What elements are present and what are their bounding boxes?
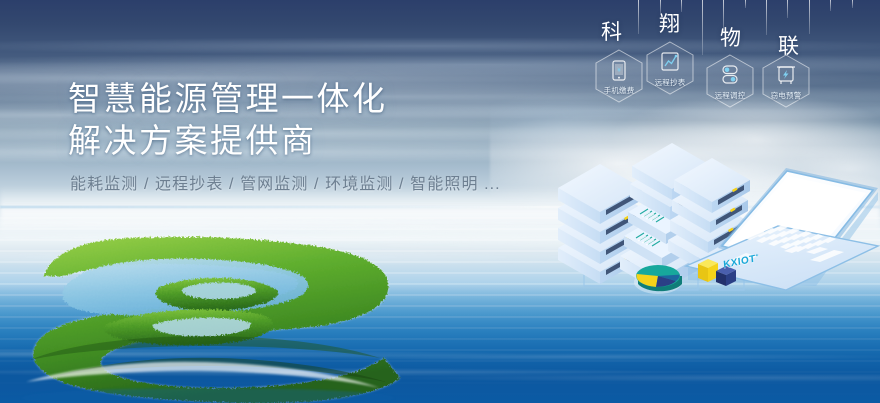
feature-label-4: 窃电预警 [759,90,813,101]
page-title: 智慧能源管理一体化 解决方案提供商 [68,78,388,162]
feature-hex-remote-meter-reading[interactable]: 远程抄表 [643,40,697,96]
feature-label-1: 手机缴费 [592,85,646,96]
brand-char-2: 翔 [659,14,680,35]
subtitle-service-list: 能耗监测 / 远程抄表 / 管网监测 / 环境监测 / 智能照明 ... [70,170,501,194]
hanging-line-8 [787,0,788,18]
datacenter-laptop-illustration: KXIOT+ [548,140,880,315]
hanging-line-3 [681,0,682,12]
hanging-line-9 [809,0,810,34]
hanging-line-10 [830,0,831,11]
brand-char-1: 科 [601,22,622,43]
currency-shaped-island-illustration [8,232,408,403]
feature-label-2: 远程抄表 [643,77,697,88]
brand-char-3: 物 [720,28,741,49]
headline-line-1: 智慧能源管理一体化 [68,78,388,120]
hanging-line-4 [702,0,703,55]
feature-hex-theft-alarm[interactable]: 窃电预警 [759,53,813,109]
hero-banner: 智慧能源管理一体化 解决方案提供商 能耗监测 / 远程抄表 / 管网监测 / 环… [0,0,880,403]
hanging-line-11 [852,0,853,8]
feature-hex-mobile-payment[interactable]: ¥ 手机缴费 [592,48,646,104]
hanging-line-1 [638,0,639,34]
hanging-line-2 [660,0,661,13]
hanging-line-7 [766,0,767,35]
headline-line-2: 解决方案提供商 [68,120,388,162]
hanging-line-6 [745,0,746,8]
laptop-brand-sup: + [755,253,759,260]
pie-chart-3d [634,265,682,294]
feature-hex-remote-control[interactable]: 远程调控 [703,53,757,109]
feature-label-3: 远程调控 [703,90,757,101]
